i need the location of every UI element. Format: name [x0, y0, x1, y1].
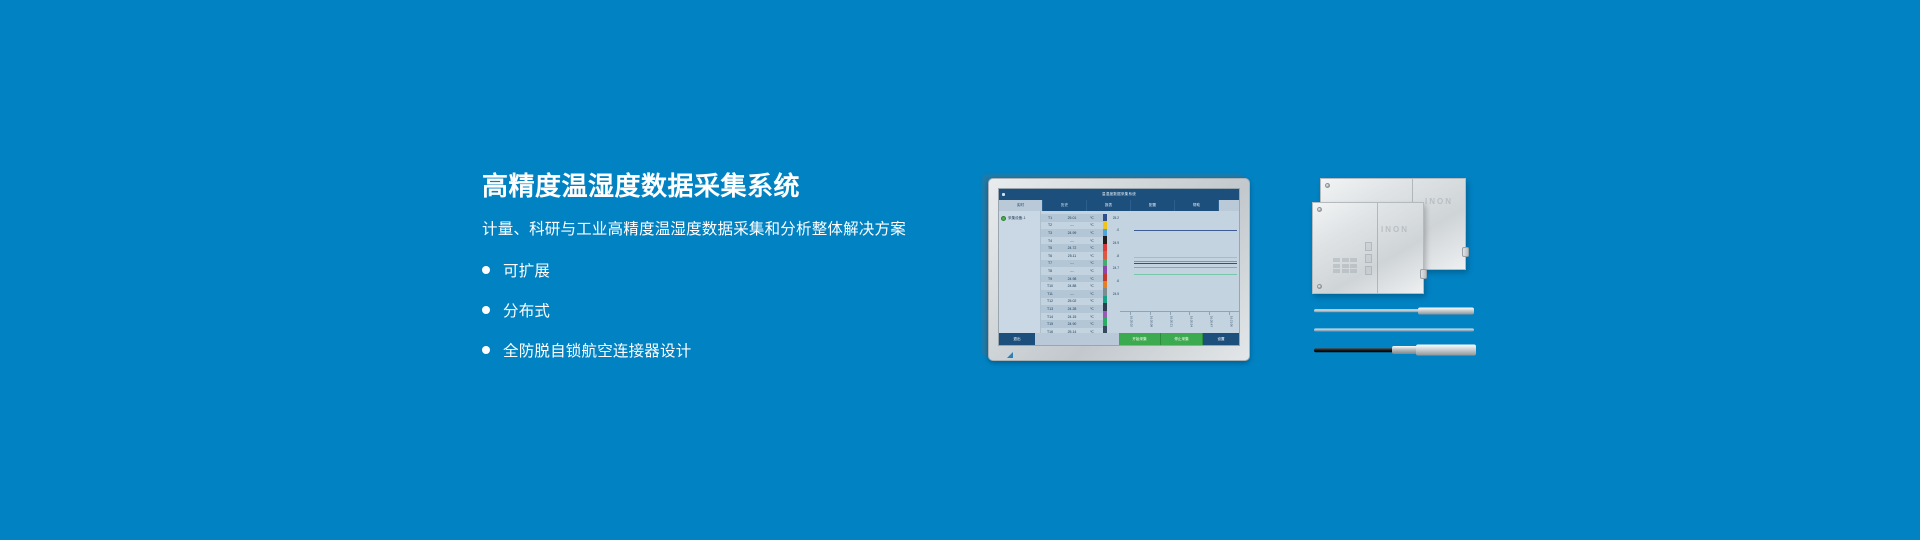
channel-name: T3 [1041, 231, 1059, 235]
x-tick-label: 16:20:47 [1209, 316, 1213, 327]
list-item: 分布式 [482, 299, 942, 321]
app-tab-bar: 实时 历史 报表 配置 帮助 [999, 200, 1239, 211]
channel-value: 24.90 [1059, 322, 1085, 326]
chart-series-line [1134, 274, 1236, 275]
x-tick [1229, 312, 1230, 315]
channel-unit: ℃ [1085, 269, 1099, 273]
table-row: T11---℃ [1041, 290, 1103, 298]
channel-name: T13 [1041, 307, 1059, 311]
chart-series-line [1134, 267, 1236, 268]
channel-name: T14 [1041, 315, 1059, 319]
channel-value: 24.99 [1059, 231, 1085, 235]
table-row: T7---℃ [1041, 260, 1103, 268]
list-item [1314, 344, 1474, 356]
channel-unit: ℃ [1085, 307, 1099, 311]
device-tree-sidebar: 采集设备-1 [999, 211, 1041, 333]
app-title: 温湿度数据采集系统 [999, 189, 1239, 200]
table-row: T625.11℃ [1041, 252, 1103, 260]
tab-config: 配置 [1131, 200, 1175, 211]
brand-logo: INON [1425, 197, 1453, 206]
channel-name: T12 [1041, 299, 1059, 303]
channel-name: T2 [1041, 223, 1059, 227]
table-row: T1524.90℃ [1041, 320, 1103, 328]
x-tick-label: 16:20:21 [1170, 316, 1174, 327]
table-row: T324.99℃ [1041, 229, 1103, 237]
tab-report: 报表 [1087, 200, 1131, 211]
table-row: T524.72℃ [1041, 244, 1103, 252]
channel-name: T1 [1041, 216, 1059, 220]
app-footer: 退出 开始采集 停止采集 设置 [999, 333, 1239, 345]
channel-unit: ℃ [1085, 292, 1099, 296]
channel-unit: ℃ [1085, 299, 1099, 303]
list-item: 全防脱自锁航空连接器设计 [482, 339, 942, 361]
page-subtitle: 计量、科研与工业高精度温湿度数据采集和分析整体解决方案 [482, 217, 942, 239]
banner-text-block: 高精度温湿度数据采集系统 计量、科研与工业高精度温湿度数据采集和分析整体解决方案… [482, 172, 942, 379]
monitor-screen: 温湿度数据采集系统 实时 历史 报表 配置 帮助 采集设备-1 [998, 188, 1240, 346]
device-product-image: INON INON [1312, 176, 1480, 366]
start-acquisition-button: 开始采集 [1119, 333, 1161, 345]
app-titlebar: 温湿度数据采集系统 [999, 189, 1239, 200]
channel-name: T10 [1041, 284, 1059, 288]
terminal-block-grid [1333, 258, 1357, 273]
channel-value: --- [1059, 239, 1085, 243]
channel-name: T4 [1041, 239, 1059, 243]
slim-probe-rod [1314, 328, 1474, 331]
table-row: T2---℃ [1041, 222, 1103, 230]
channel-value: 25.11 [1059, 254, 1085, 258]
channel-name: T8 [1041, 269, 1059, 273]
channel-value: --- [1059, 261, 1085, 265]
channel-unit: ℃ [1085, 261, 1099, 265]
x-tick-label: 16:20:34 [1189, 316, 1193, 327]
cable-probe-body [1416, 345, 1476, 356]
chart-series-line [1134, 230, 1236, 231]
channel-value: --- [1059, 223, 1085, 227]
channel-unit: ℃ [1085, 216, 1099, 220]
table-row: T8---℃ [1041, 267, 1103, 275]
tab-help: 帮助 [1175, 200, 1219, 211]
feature-label: 全防脱自锁航空连接器设计 [503, 339, 691, 361]
chart-y-axis: 25.2.024.9.824.7.624.5 [1107, 211, 1120, 333]
connector-port-icon [1462, 247, 1469, 257]
trend-chart: 25.2.024.9.824.7.624.5 16:20:0216:20:081… [1107, 211, 1239, 333]
connector-port-icon [1420, 269, 1427, 279]
sidebar-item-label: 采集设备-1 [1008, 216, 1026, 221]
monitor-product-image: 温湿度数据采集系统 实时 历史 报表 配置 帮助 采集设备-1 [988, 178, 1250, 361]
channel-unit: ℃ [1085, 246, 1099, 250]
channel-value: 24.88 [1059, 284, 1085, 288]
y-tick-label: .0 [1116, 228, 1119, 232]
x-tick [1130, 312, 1131, 315]
monitor-stand-icon [1007, 352, 1013, 358]
channel-table: T125.01℃T2---℃T324.99℃T4---℃T524.72℃T625… [1041, 211, 1103, 333]
channel-name: T9 [1041, 277, 1059, 281]
tab-bar-filler [1219, 200, 1239, 211]
screw-icon [1317, 284, 1322, 289]
list-item [1314, 326, 1474, 333]
y-tick-label: .6 [1116, 279, 1119, 283]
channel-value: --- [1059, 269, 1085, 273]
y-tick-label: 24.9 [1113, 241, 1119, 245]
channel-value: --- [1059, 292, 1085, 296]
channel-name: T5 [1041, 246, 1059, 250]
sidebar-item-device: 采集设备-1 [999, 215, 1040, 222]
bullet-dot-icon [482, 306, 490, 314]
brand-logo: INON [1381, 225, 1409, 234]
channel-unit: ℃ [1085, 322, 1099, 326]
cable-probe-cable [1314, 348, 1396, 352]
stainless-probe-tip [1418, 307, 1474, 314]
chart-x-axis: 16:20:0216:20:0816:20:2116:20:3416:20:47… [1120, 311, 1239, 333]
channel-value: 24.98 [1059, 277, 1085, 281]
x-tick-label: 16:21:00 [1229, 316, 1233, 327]
channel-value: 25.02 [1059, 299, 1085, 303]
settings-button: 设置 [1203, 333, 1239, 345]
promo-banner: 高精度温湿度数据采集系统 计量、科研与工业高精度温湿度数据采集和分析整体解决方案… [0, 0, 1920, 540]
table-row: T1024.88℃ [1041, 282, 1103, 290]
channel-value: 24.72 [1059, 246, 1085, 250]
y-tick-label: 25.2 [1113, 216, 1119, 220]
exit-button: 退出 [999, 333, 1035, 345]
x-tick [1170, 312, 1171, 315]
list-item [1314, 306, 1474, 315]
channel-value: 25.01 [1059, 216, 1085, 220]
channel-name: T15 [1041, 322, 1059, 326]
table-row: T1225.02℃ [1041, 298, 1103, 306]
channel-name: T7 [1041, 261, 1059, 265]
list-item: 可扩展 [482, 259, 942, 281]
bullet-dot-icon [482, 346, 490, 354]
channel-unit: ℃ [1085, 315, 1099, 319]
feature-label: 可扩展 [503, 259, 550, 281]
enclosure-front-unit: INON [1312, 202, 1424, 294]
page-title: 高精度温湿度数据采集系统 [482, 172, 942, 201]
app-body: 采集设备-1 T125.01℃T2---℃T324.99℃T4---℃T524.… [999, 211, 1239, 333]
monitor-bezel: 温湿度数据采集系统 实时 历史 报表 配置 帮助 采集设备-1 [988, 178, 1250, 361]
chart-series-line [1134, 261, 1236, 262]
x-tick-label: 16:20:08 [1150, 316, 1154, 327]
channel-unit: ℃ [1085, 254, 1099, 258]
channel-unit: ℃ [1085, 239, 1099, 243]
cable-probe-ferrule [1392, 346, 1418, 354]
channel-unit: ℃ [1085, 223, 1099, 227]
table-row: T4---℃ [1041, 237, 1103, 245]
panel-icons [1365, 242, 1372, 275]
footer-spacer [1035, 333, 1119, 345]
y-tick-label: .8 [1116, 254, 1119, 258]
chart-series-line [1134, 263, 1236, 264]
stop-acquisition-button: 停止采集 [1161, 333, 1203, 345]
tab-realtime: 实时 [999, 200, 1043, 211]
feature-label: 分布式 [503, 299, 550, 321]
stainless-probe-rod [1314, 309, 1422, 313]
x-tick [1150, 312, 1151, 315]
table-row: T1324.28℃ [1041, 305, 1103, 313]
channel-unit: ℃ [1085, 277, 1099, 281]
chart-series-line [1134, 257, 1236, 258]
x-tick-label: 16:20:02 [1130, 316, 1134, 327]
y-tick-label: 24.7 [1113, 266, 1119, 270]
table-row: T125.01℃ [1041, 214, 1103, 222]
x-tick [1209, 312, 1210, 315]
channel-unit: ℃ [1085, 284, 1099, 288]
channel-unit: ℃ [1085, 231, 1099, 235]
tab-history: 历史 [1043, 200, 1087, 211]
table-row: T924.98℃ [1041, 275, 1103, 283]
channel-value: 24.28 [1059, 307, 1085, 311]
device-status-icon [1001, 216, 1006, 221]
feature-list: 可扩展 分布式 全防脱自锁航空连接器设计 [482, 259, 942, 361]
screw-icon [1317, 207, 1322, 212]
screw-icon [1325, 183, 1330, 188]
table-row: T1424.15℃ [1041, 313, 1103, 321]
channel-name: T11 [1041, 292, 1059, 296]
y-tick-label: 24.5 [1113, 292, 1119, 296]
bullet-dot-icon [482, 266, 490, 274]
channel-name: T6 [1041, 254, 1059, 258]
channel-value: 24.15 [1059, 315, 1085, 319]
x-tick [1189, 312, 1190, 315]
